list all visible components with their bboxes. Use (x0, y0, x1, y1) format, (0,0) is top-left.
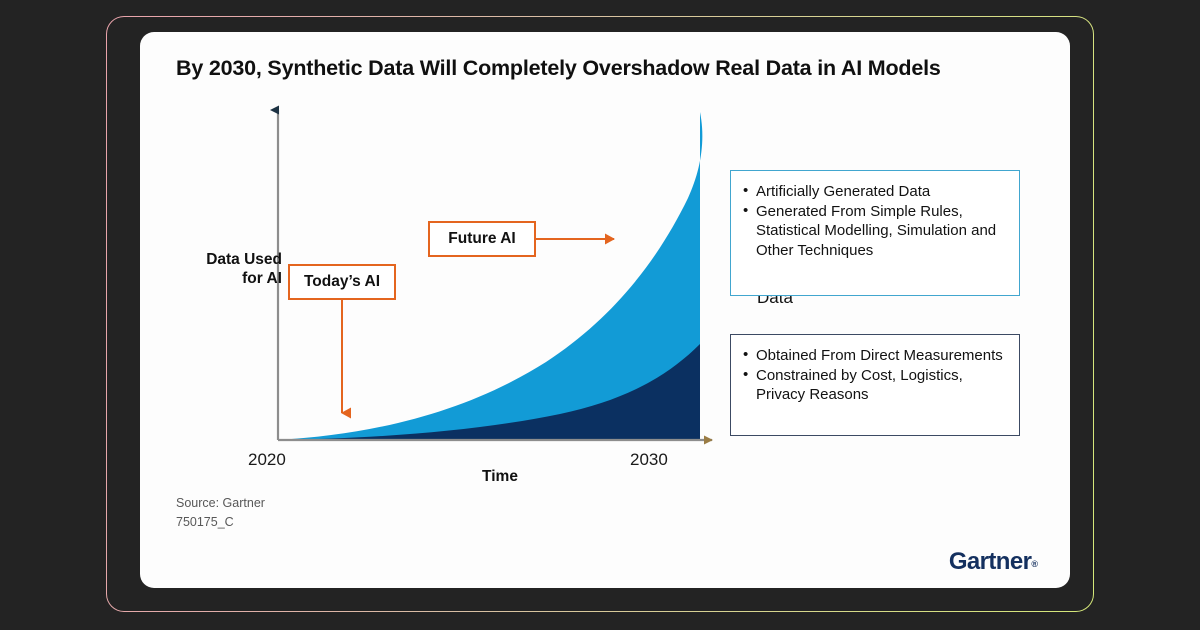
gartner-wordmark: Gartner (949, 548, 1032, 575)
y-axis-title: Data Used for AI (156, 250, 282, 289)
list-item: Generated From Simple Rules, Statistical… (743, 202, 1005, 260)
area-chart (140, 32, 1070, 588)
list-item: Obtained From Direct Measurements (743, 346, 1005, 365)
screenshot-canvas: By 2030, Synthetic Data Will Completely … (0, 0, 1200, 630)
x-axis-title: Time (420, 468, 580, 486)
infographic-card: By 2030, Synthetic Data Will Completely … (140, 32, 1070, 588)
registered-trademark-icon: ® (1031, 559, 1038, 569)
source-line: Source: Gartner (176, 494, 265, 513)
synthetic-bullet-list: Artificially Generated Data Generated Fr… (743, 182, 1005, 260)
list-item: Artificially Generated Data (743, 182, 1005, 201)
document-id: 750175_C (176, 513, 265, 532)
synthetic-data-description-box: Artificially Generated Data Generated Fr… (730, 170, 1020, 296)
gartner-logo: Gartner® (914, 548, 1038, 576)
x-tick-2030: 2030 (630, 450, 668, 470)
callout-todays-ai: Today’s AI (288, 264, 396, 300)
real-bullet-list: Obtained From Direct Measurements Constr… (743, 346, 1005, 405)
x-tick-2020: 2020 (248, 450, 286, 470)
list-item: Constrained by Cost, Logistics, Privacy … (743, 366, 1005, 404)
real-data-description-box: Obtained From Direct Measurements Constr… (730, 334, 1020, 436)
source-block: Source: Gartner 750175_C (176, 494, 265, 533)
callout-future-ai: Future AI (428, 221, 536, 257)
